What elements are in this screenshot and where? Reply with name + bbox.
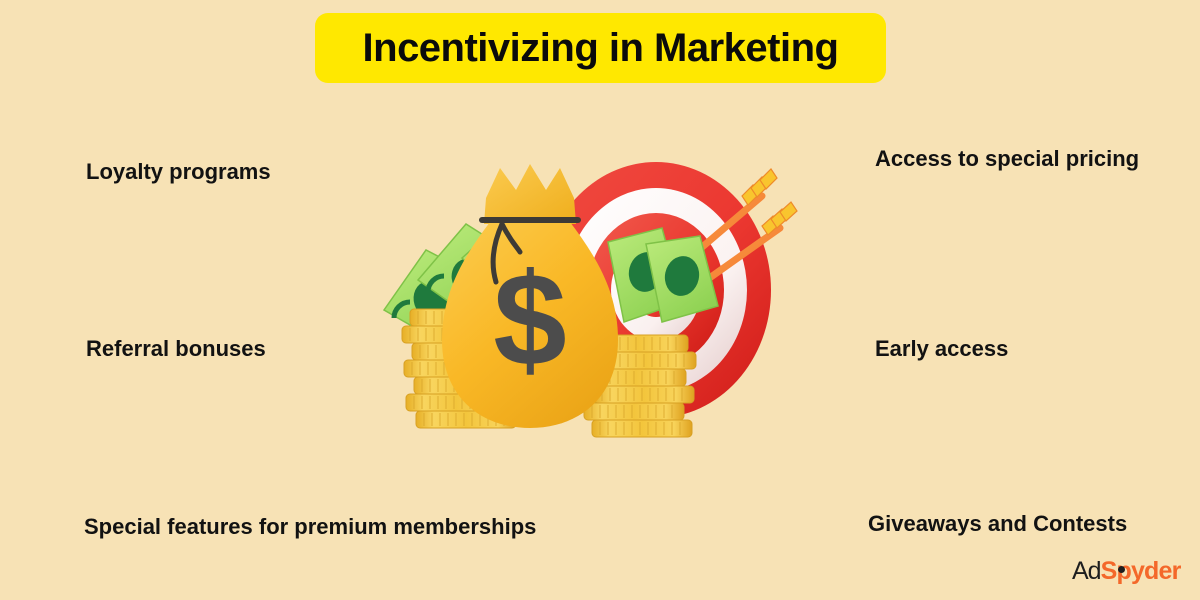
infographic-poster: Incentivizing in Marketing Loyalty progr… <box>0 0 1200 600</box>
adspyder-logo[interactable]: Ad Spyder <box>1072 557 1181 585</box>
money-bag-and-target-illustration: $ <box>370 150 810 440</box>
logo-brand-text: Spyder <box>1101 557 1181 585</box>
benefit-label-early-access: Early access <box>875 338 1008 360</box>
logo-prefix-ad: Ad <box>1072 557 1101 586</box>
benefit-label-access-special-pricing: Access to special pricing <box>875 148 1139 170</box>
benefit-label-referral-bonuses: Referral bonuses <box>86 338 266 360</box>
dollar-sign: $ <box>493 246 566 393</box>
benefit-label-loyalty-programs: Loyalty programs <box>86 161 271 183</box>
page-title: Incentivizing in Marketing <box>363 28 839 68</box>
title-banner: Incentivizing in Marketing <box>315 13 886 83</box>
benefit-label-giveaways-and-contests: Giveaways and Contests <box>868 513 1127 535</box>
benefit-label-premium-memberships: Special features for premium memberships <box>84 516 536 538</box>
logo-brand-spyder: Spyder <box>1101 557 1181 586</box>
